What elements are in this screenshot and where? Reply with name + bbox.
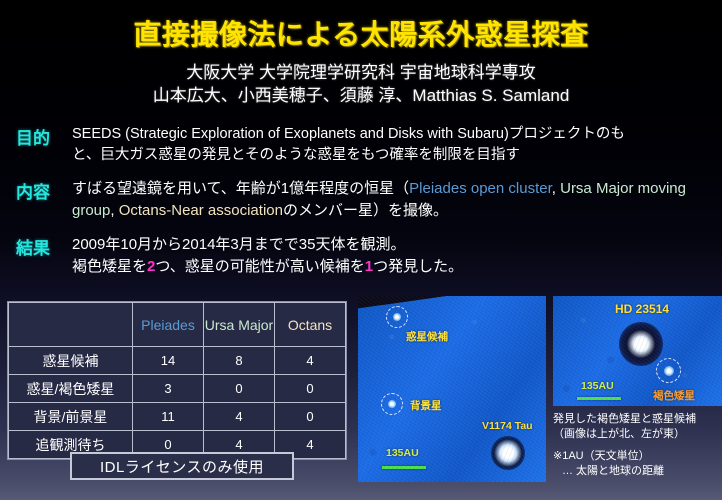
idl-license-note: IDLライセンスのみ使用	[70, 452, 294, 480]
cell-planet-browndwarf-ursa: 0	[204, 375, 275, 403]
section-result-label: 結果	[16, 234, 66, 259]
section-purpose: 目的 SEEDS (Strategic Exploration of Exopl…	[16, 124, 716, 166]
purpose-line1-post: プロジェクトのも	[509, 126, 625, 142]
row-label-planet-browndwarf: 惑星/褐色矮星	[9, 375, 133, 403]
cell-background-pleiades: 11	[133, 403, 204, 431]
table-corner-cell	[9, 303, 133, 347]
section-content: 内容 すばる望遠鏡を用いて、年齢が1億年程度の恒星（Pleiades open …	[16, 178, 716, 222]
content-sep-2: ,	[110, 202, 118, 219]
results-table: Pleiades Ursa Major Octans 惑星候補 14 8 4 惑…	[8, 302, 346, 459]
label-scale-right: 135AU	[581, 380, 614, 392]
row-label-planet-candidate: 惑星候補	[9, 347, 133, 375]
cell-background-octans: 0	[275, 403, 346, 431]
table-column-header-ursa-major: Ursa Major	[204, 303, 275, 347]
field-edge-mask	[358, 296, 466, 310]
label-background-star: 背景星	[410, 398, 442, 413]
caption-line2: （画像は上が北、左が東）	[553, 427, 722, 442]
group-octans-near: Octans-Near association	[119, 202, 283, 219]
table-column-header-octans: Octans	[275, 303, 346, 347]
label-hd23514: HD 23514	[615, 302, 669, 316]
scalebar-right	[577, 397, 621, 400]
label-brown-dwarf: 褐色矮星	[653, 388, 695, 403]
result-text-a: 褐色矮星を	[72, 258, 147, 275]
content-text-2: のメンバー星）を撮像。	[283, 202, 448, 219]
caption-line3: ※1AU（天文単位）	[553, 449, 722, 464]
result-line2: 褐色矮星を2つ、惑星の可能性が高い候補を1つ発見した。	[72, 256, 716, 278]
section-purpose-label: 目的	[16, 124, 66, 149]
section-result: 結果 2009年10月から2014年3月までで35天体を観測。 褐色矮星を2つ、…	[16, 234, 716, 278]
cell-planet-browndwarf-octans: 0	[275, 375, 346, 403]
table-row: 背景/前景星 11 4 0	[9, 403, 346, 431]
section-purpose-body: SEEDS (Strategic Exploration of Exoplane…	[72, 124, 716, 166]
group-pleiades: Pleiades open cluster	[409, 180, 552, 197]
result-text-c: つ発見した。	[373, 258, 463, 275]
table-row: 惑星/褐色矮星 3 0 0	[9, 375, 346, 403]
source-planet-candidate	[393, 313, 401, 321]
result-line1: 2009年10月から2014年3月までで35天体を観測。	[72, 234, 716, 256]
table-row: 惑星候補 14 8 4	[9, 347, 346, 375]
content-text-1: すばる望遠鏡を用いて、年齢が1億年程度の恒星（	[72, 180, 409, 197]
source-brown-dwarf	[664, 366, 674, 376]
label-scale-left: 135AU	[386, 447, 419, 459]
astro-image-v1174tau: 惑星候補 背景星 V1174 Tau 135AU	[358, 296, 546, 482]
page-title: 直接撮像法による太陽系外惑星探査	[0, 13, 722, 53]
label-planet-candidate: 惑星候補	[406, 329, 448, 344]
caption-line1: 発見した褐色矮星と惑星候補	[553, 412, 722, 427]
caption-line4: … 太陽と地球の距離	[553, 464, 722, 479]
purpose-line2: と、巨大ガス惑星の発見とそのような惑星をもつ確率を制限を目指す	[72, 145, 716, 166]
cell-planet-candidate-pleiades: 14	[133, 347, 204, 375]
slide-canvas: 直接撮像法による太陽系外惑星探査 大阪大学 大学院理学研究科 宇宙地球科学専攻 …	[0, 0, 722, 500]
cell-background-ursa: 4	[204, 403, 275, 431]
result-text-b: つ、惑星の可能性が高い候補を	[155, 258, 364, 275]
cell-planet-browndwarf-pleiades: 3	[133, 375, 204, 403]
purpose-line1-pre: SEEDS (Strategic Exploration of Exoplane…	[72, 126, 509, 142]
source-hd23514	[619, 322, 663, 366]
content-sep-1: ,	[552, 180, 560, 197]
image-caption-block: 発見した褐色矮星と惑星候補 （画像は上が北、左が東） ※1AU（天文単位） … …	[553, 412, 722, 478]
idl-license-note-text: IDLライセンスのみ使用	[100, 456, 264, 477]
source-v1174tau	[491, 436, 525, 470]
section-content-label: 内容	[16, 178, 66, 203]
scalebar-left	[382, 466, 426, 469]
affiliation-line: 大阪大学 大学院理学研究科 宇宙地球科学専攻	[0, 58, 722, 83]
authors-line: 山本広大、小西美穂子、須藤 淳、Matthias S. Samland	[0, 81, 722, 106]
label-v1174tau: V1174 Tau	[482, 420, 533, 432]
cell-planet-candidate-ursa: 8	[204, 347, 275, 375]
section-content-body: すばる望遠鏡を用いて、年齢が1億年程度の恒星（Pleiades open clu…	[72, 178, 716, 222]
table-column-header-pleiades: Pleiades	[133, 303, 204, 347]
result-count-planet-candidate: 1	[365, 258, 373, 275]
row-label-background-foreground: 背景/前景星	[9, 403, 133, 431]
table-header-row: Pleiades Ursa Major Octans	[9, 303, 346, 347]
section-result-body: 2009年10月から2014年3月までで35天体を観測。 褐色矮星を2つ、惑星の…	[72, 234, 716, 278]
astro-image-hd23514: HD 23514 褐色矮星 135AU	[553, 296, 722, 406]
cell-planet-candidate-octans: 4	[275, 347, 346, 375]
source-background-star	[388, 400, 396, 408]
